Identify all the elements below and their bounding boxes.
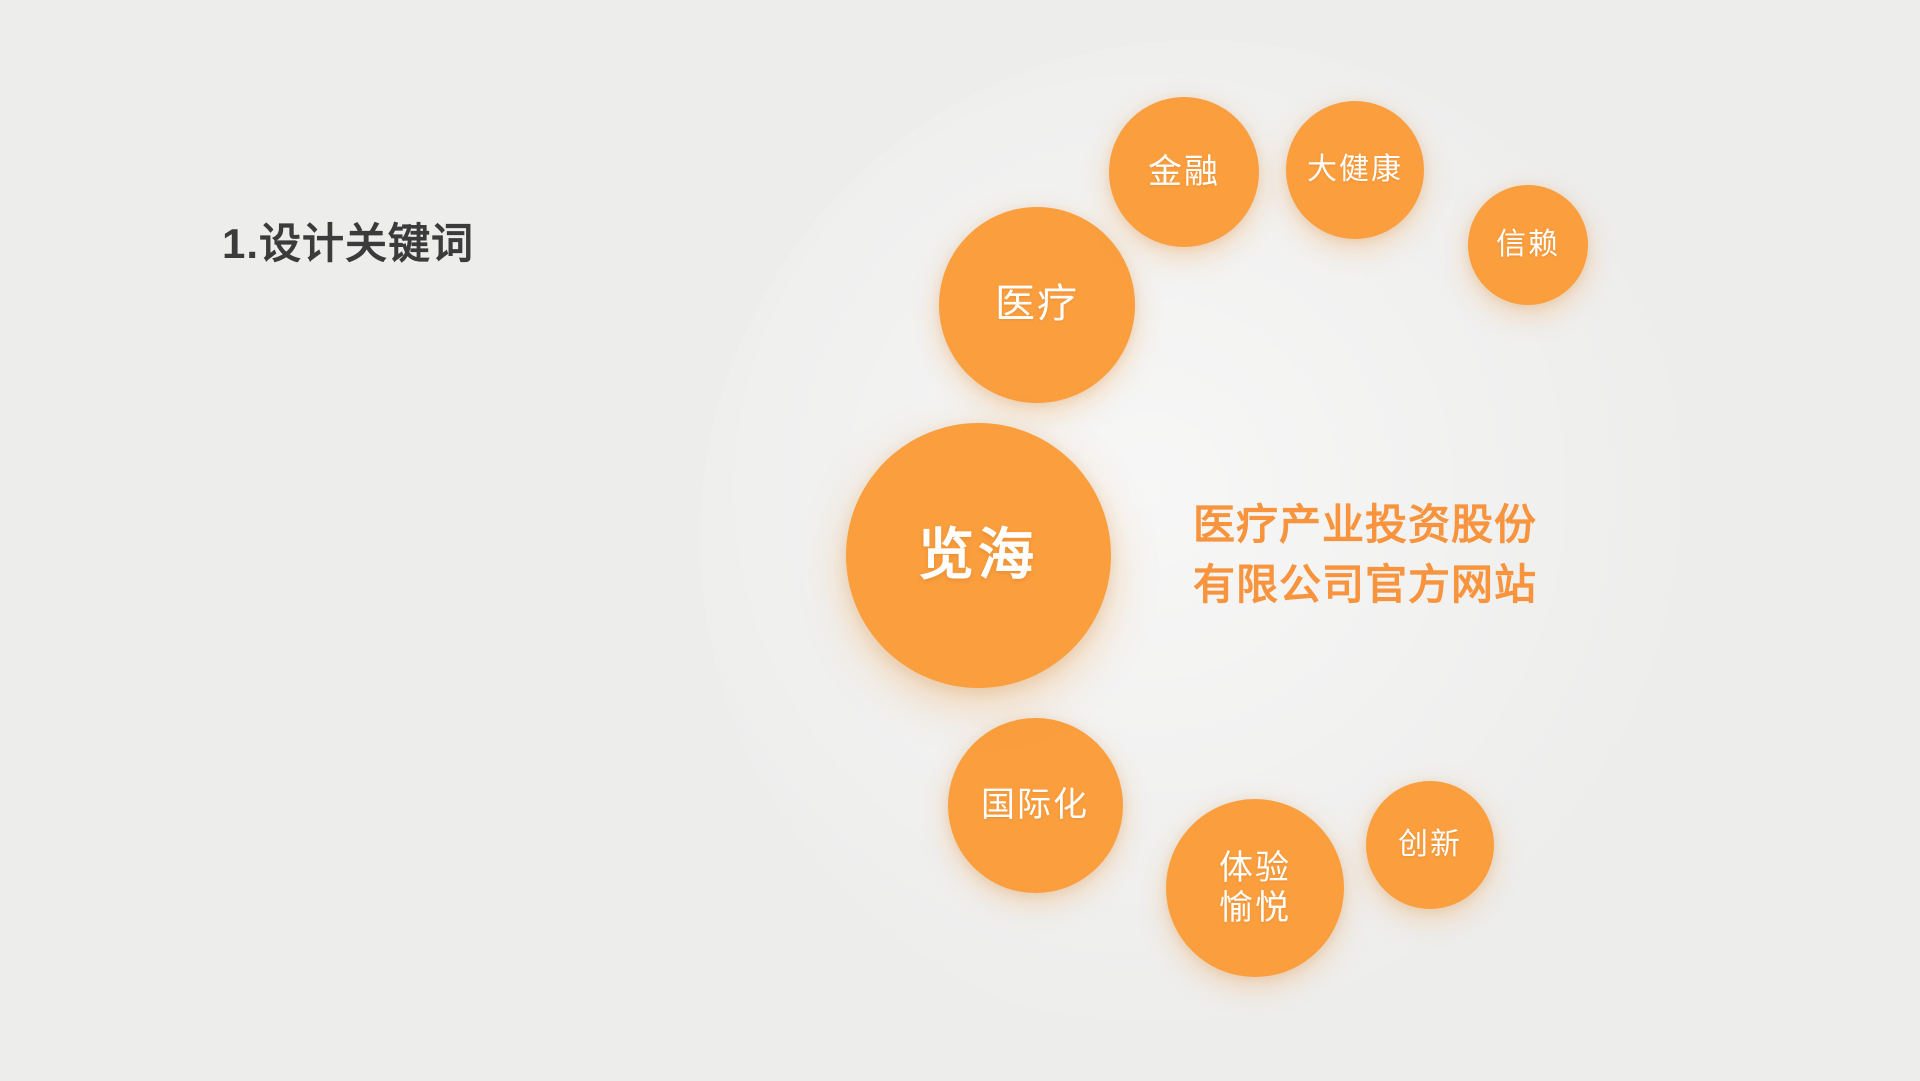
keyword-bubble-cluster: 医疗金融大健康信赖国际化体验 愉悦创新览海 [0,0,1920,1081]
slide-canvas: 1.设计关键词 医疗金融大健康信赖国际化体验 愉悦创新览海 医疗产业投资股份 有… [0,0,1920,1081]
company-name: 医疗产业投资股份 有限公司官方网站 [1193,495,1537,614]
keyword-bubble-guojihua[interactable]: 国际化 [948,718,1123,893]
keyword-bubble-dajiankang[interactable]: 大健康 [1286,101,1424,239]
keyword-bubble-label: 医疗 [995,281,1079,328]
keyword-bubble-label: 大健康 [1307,152,1403,187]
keyword-bubble-lanhai[interactable]: 览海 [846,423,1111,688]
keyword-bubble-tiyanyuyue[interactable]: 体验 愉悦 [1166,799,1344,977]
keyword-bubble-label: 体验 愉悦 [1219,848,1291,928]
keyword-bubble-jinrong[interactable]: 金融 [1109,97,1259,247]
keyword-bubble-label: 创新 [1398,827,1462,862]
keyword-bubble-label: 览海 [918,522,1038,588]
keyword-bubble-label: 金融 [1148,152,1220,192]
keyword-bubble-chuangxin[interactable]: 创新 [1366,781,1494,909]
keyword-bubble-label: 信赖 [1496,227,1560,262]
keyword-bubble-xinlai[interactable]: 信赖 [1468,185,1588,305]
keyword-bubble-yiliao[interactable]: 医疗 [939,207,1135,403]
keyword-bubble-label: 国际化 [981,785,1089,825]
